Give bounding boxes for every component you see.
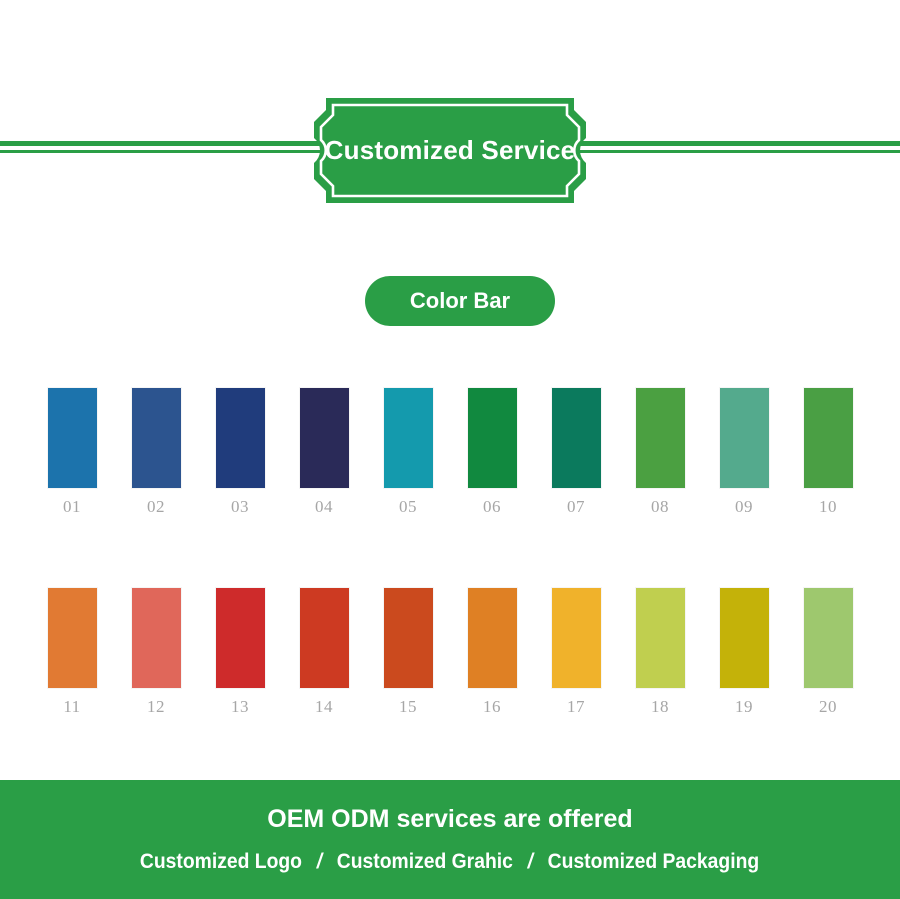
swatch-label-12: 12: [147, 698, 165, 715]
swatch-cell-06[interactable]: 06: [456, 388, 528, 515]
swatch-chip-13[interactable]: [216, 588, 265, 688]
page-title: Customized Service: [310, 98, 590, 203]
swatch-chip-08[interactable]: [636, 388, 685, 488]
swatch-cell-07[interactable]: 07: [540, 388, 612, 515]
swatch-label-15: 15: [399, 698, 417, 715]
swatch-label-14: 14: [315, 698, 333, 715]
swatch-label-18: 18: [651, 698, 669, 715]
swatch-chip-09[interactable]: [720, 388, 769, 488]
footer-headline: OEM ODM services are offered: [267, 805, 632, 834]
swatch-label-05: 05: [399, 498, 417, 515]
swatch-chip-10[interactable]: [804, 388, 853, 488]
swatch-chip-14[interactable]: [300, 588, 349, 688]
swatch-cell-19[interactable]: 19: [708, 588, 780, 715]
swatch-cell-14[interactable]: 14: [288, 588, 360, 715]
swatch-chip-18[interactable]: [636, 588, 685, 688]
swatch-label-13: 13: [231, 698, 249, 715]
swatch-cell-11[interactable]: 11: [36, 588, 108, 715]
swatch-label-03: 03: [231, 498, 249, 515]
swatch-cell-18[interactable]: 18: [624, 588, 696, 715]
swatch-cell-01[interactable]: 01: [36, 388, 108, 515]
swatch-cell-05[interactable]: 05: [372, 388, 444, 515]
color-bar-heading-pill: Color Bar: [365, 276, 555, 326]
swatch-label-08: 08: [651, 498, 669, 515]
swatch-chip-05[interactable]: [384, 388, 433, 488]
swatch-chip-03[interactable]: [216, 388, 265, 488]
swatch-cell-08[interactable]: 08: [624, 388, 696, 515]
header-section: Customized Service: [0, 0, 900, 250]
swatch-label-10: 10: [819, 498, 837, 515]
swatch-label-07: 07: [567, 498, 585, 515]
swatch-chip-20[interactable]: [804, 588, 853, 688]
swatch-chip-04[interactable]: [300, 388, 349, 488]
swatch-row-2: 11121314151617181920: [36, 588, 864, 715]
swatch-chip-17[interactable]: [552, 588, 601, 688]
swatch-label-04: 04: [315, 498, 333, 515]
swatch-chip-02[interactable]: [132, 388, 181, 488]
swatch-chip-11[interactable]: [48, 588, 97, 688]
swatch-cell-13[interactable]: 13: [204, 588, 276, 715]
swatch-label-20: 20: [819, 698, 837, 715]
footer-service-graphic: Customized Grahic: [337, 850, 513, 874]
footer-separator-1: /: [302, 850, 337, 874]
swatch-chip-06[interactable]: [468, 388, 517, 488]
swatch-label-02: 02: [147, 498, 165, 515]
swatch-cell-09[interactable]: 09: [708, 388, 780, 515]
swatch-cell-12[interactable]: 12: [120, 588, 192, 715]
swatch-chip-12[interactable]: [132, 588, 181, 688]
swatch-row-1: 01020304050607080910: [36, 388, 864, 515]
swatch-cell-04[interactable]: 04: [288, 388, 360, 515]
swatch-chip-19[interactable]: [720, 588, 769, 688]
swatch-chip-15[interactable]: [384, 588, 433, 688]
footer-service-list: Customized Logo / Customized Grahic / Cu…: [140, 850, 759, 874]
footer-separator-2: /: [513, 850, 548, 874]
footer-service-packaging: Customized Packaging: [548, 850, 759, 874]
swatch-label-16: 16: [483, 698, 501, 715]
swatch-cell-16[interactable]: 16: [456, 588, 528, 715]
swatch-label-09: 09: [735, 498, 753, 515]
swatch-cell-17[interactable]: 17: [540, 588, 612, 715]
header-plaque: Customized Service: [310, 98, 590, 203]
swatch-label-17: 17: [567, 698, 585, 715]
swatch-cell-10[interactable]: 10: [792, 388, 864, 515]
swatch-cell-03[interactable]: 03: [204, 388, 276, 515]
swatch-chip-16[interactable]: [468, 588, 517, 688]
footer-banner: OEM ODM services are offered Customized …: [0, 780, 900, 899]
swatch-chip-01[interactable]: [48, 388, 97, 488]
swatch-label-19: 19: [735, 698, 753, 715]
swatch-label-11: 11: [63, 698, 80, 715]
swatch-label-06: 06: [483, 498, 501, 515]
footer-service-logo: Customized Logo: [140, 850, 302, 874]
swatch-label-01: 01: [63, 498, 81, 515]
swatch-cell-02[interactable]: 02: [120, 388, 192, 515]
swatch-cell-20[interactable]: 20: [792, 588, 864, 715]
swatch-cell-15[interactable]: 15: [372, 588, 444, 715]
swatch-chip-07[interactable]: [552, 388, 601, 488]
